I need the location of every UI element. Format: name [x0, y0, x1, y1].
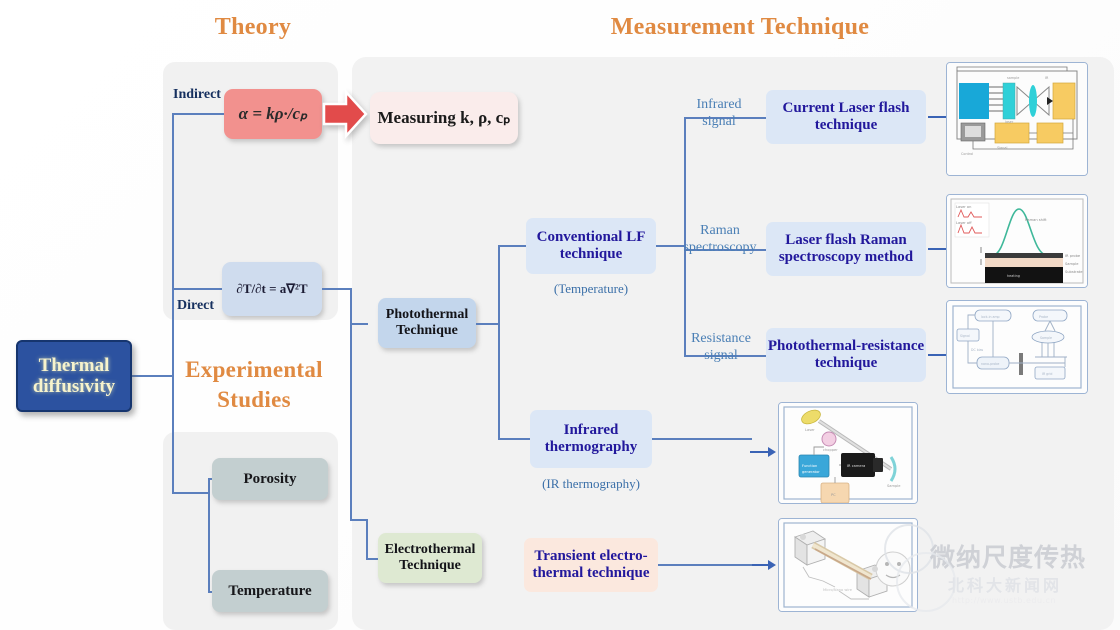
connector-direct-right: [322, 288, 352, 290]
connector-root-out: [132, 375, 174, 377]
technique-photothermal[interactable]: Photothermal Technique: [378, 298, 476, 348]
signal-label-raman: Raman spectroscopy: [672, 222, 768, 256]
svg-text:Control: Control: [961, 152, 973, 156]
transient-electrothermal-label: Transient electro-thermal technique: [524, 548, 658, 582]
formula-direct-text: ∂T/∂t = a∇²T: [236, 282, 307, 297]
thumbnail-laser-flash-setup[interactable]: sampleIR SignalControl laser: [946, 62, 1088, 176]
connector-to-conventional: [498, 245, 526, 247]
svg-text:IR grid: IR grid: [1042, 372, 1052, 376]
svg-text:Sample: Sample: [1065, 262, 1079, 266]
signal-label-infrared: Infrared signal: [678, 96, 760, 130]
svg-text:Raman shift: Raman shift: [1025, 218, 1047, 222]
signal-raman-text: Raman spectroscopy: [683, 223, 756, 255]
svg-text:heating: heating: [1007, 274, 1020, 278]
experimental-section-title: Experimental Studies: [163, 355, 345, 415]
measuring-node[interactable]: Measuring k, ρ, cₚ: [370, 92, 518, 144]
connector-tet-to-thumb: [658, 564, 752, 566]
svg-text:lock-in amp: lock-in amp: [981, 315, 1000, 319]
method-transient-electrothermal[interactable]: Transient electro-thermal technique: [524, 538, 658, 592]
current-laser-flash-label: Current Laser flash technique: [766, 100, 926, 134]
infrared-thermography-subtitle: (IR thermography): [506, 476, 676, 492]
svg-text:Micro/Nano wire: Micro/Nano wire: [823, 588, 853, 592]
watermark-logo-icon: [896, 552, 956, 612]
svg-text:Laser: Laser: [805, 428, 815, 432]
label-indirect: Indirect: [173, 87, 221, 103]
photothermal-resistance-schematic-icon: lock-in ampProbe SignalSample nano-probe…: [947, 301, 1087, 393]
svg-text:sample: sample: [1007, 76, 1019, 80]
svg-text:Laser off: Laser off: [956, 221, 972, 225]
svg-text:IR camera: IR camera: [847, 464, 865, 468]
watermark-url: http://www.ustb.edu.cn: [952, 596, 1120, 605]
thumbnail-raman-spectra[interactable]: Raman shift IR probe Sample Substrate La…: [946, 194, 1088, 288]
svg-text:IR probe: IR probe: [1065, 254, 1081, 258]
signal-infrared-text: Infrared signal: [696, 97, 741, 129]
electrothermal-label: Electrothermal Technique: [378, 542, 482, 573]
connector-theory-spine: [172, 114, 174, 376]
svg-text:Probe: Probe: [1039, 315, 1048, 319]
photothermal-label: Photothermal Technique: [378, 307, 476, 338]
svg-text:laser: laser: [1005, 120, 1014, 124]
watermark-subtext: 北科大新闻网: [948, 572, 1120, 596]
connector-exp-vertical: [208, 478, 210, 592]
svg-text:generator: generator: [802, 470, 820, 474]
signal-label-resistance: Resistance signal: [678, 330, 764, 364]
svg-text:Sample: Sample: [1040, 336, 1052, 340]
laser-flash-raman-label: Laser flash Raman spectroscopy method: [766, 232, 926, 266]
measuring-label: Measuring k, ρ, cₚ: [377, 108, 510, 127]
arrow-right-icon-irt: [750, 446, 776, 458]
instrument-current-laser-flash[interactable]: Current Laser flash technique: [766, 90, 926, 144]
svg-text:Sample: Sample: [887, 484, 901, 488]
svg-text:DC bias: DC bias: [971, 348, 984, 352]
instrument-laser-flash-raman[interactable]: Laser flash Raman spectroscopy method: [766, 222, 926, 276]
method-conventional-lf[interactable]: Conventional LF technique: [526, 218, 656, 274]
svg-text:Signal: Signal: [997, 146, 1007, 150]
connector-electro-down: [366, 519, 368, 559]
diagram-canvas: Theory Measurement Technique Experimenta…: [0, 0, 1120, 630]
root-node-label: Thermal diffusivity: [18, 355, 130, 398]
measurement-section-title: Measurement Technique: [560, 14, 920, 41]
svg-text:nano-probe: nano-probe: [981, 362, 999, 366]
label-direct: Direct: [177, 298, 214, 314]
watermark-text: 微纳尺度传热: [930, 538, 1120, 574]
infrared-thermography-label: Infrared thermography: [530, 422, 652, 456]
theory-section-title: Theory: [178, 14, 328, 41]
method-infrared-thermography[interactable]: Infrared thermography: [530, 410, 652, 468]
connector-pt-spine: [498, 245, 500, 439]
connector-to-indirect: [172, 113, 226, 115]
connector-pt-out: [476, 323, 500, 325]
connector-exp-spine-upper: [172, 375, 174, 493]
svg-text:Substrate: Substrate: [1065, 270, 1083, 274]
formula-box-direct[interactable]: ∂T/∂t = a∇²T: [222, 262, 322, 316]
laser-flash-schematic-icon: sampleIR SignalControl laser: [947, 63, 1087, 175]
svg-text:chopper: chopper: [823, 448, 838, 452]
raman-spectra-schematic-icon: Raman shift IR probe Sample Substrate La…: [947, 195, 1087, 287]
conventional-lf-subtitle: (Temperature): [526, 281, 656, 297]
arrow-right-icon-tet: [750, 559, 776, 571]
signal-resistance-text: Resistance signal: [691, 331, 751, 363]
connector-exp-branch: [172, 492, 210, 494]
instrument-photothermal-resistance[interactable]: Photothermal-resistance technique: [766, 328, 926, 382]
connector-to-direct: [172, 288, 224, 290]
technique-electrothermal[interactable]: Electrothermal Technique: [378, 533, 482, 583]
experimental-item-temperature[interactable]: Temperature: [212, 570, 328, 612]
connector-to-photothermal: [350, 323, 368, 325]
formula-indirect-text: α = kρ·/cₚ: [239, 104, 308, 123]
connector-ir-to-thumb: [652, 438, 752, 440]
ir-thermography-schematic-icon: Laser chopper Function generator IR came…: [779, 403, 917, 503]
svg-text:PC: PC: [831, 493, 836, 497]
connector-to-infrared: [498, 438, 530, 440]
right-arrow-icon: [322, 88, 368, 140]
svg-text:Function: Function: [802, 464, 817, 468]
thumbnail-photothermal-resistance-circuit[interactable]: lock-in ampProbe SignalSample nano-probe…: [946, 300, 1088, 394]
svg-text:Laser on: Laser on: [956, 205, 971, 209]
photothermal-resistance-label: Photothermal-resistance technique: [766, 338, 926, 372]
root-node-thermal-diffusivity[interactable]: Thermal diffusivity: [16, 340, 132, 412]
experimental-item-porosity[interactable]: Porosity: [212, 458, 328, 500]
porosity-label: Porosity: [243, 471, 296, 488]
thumbnail-ir-thermography-setup[interactable]: Laser chopper Function generator IR came…: [778, 402, 918, 504]
conventional-lf-label: Conventional LF technique: [526, 229, 656, 263]
formula-box-indirect[interactable]: α = kρ·/cₚ: [224, 89, 322, 139]
svg-text:Signal: Signal: [960, 334, 970, 338]
temperature-label: Temperature: [228, 583, 311, 600]
